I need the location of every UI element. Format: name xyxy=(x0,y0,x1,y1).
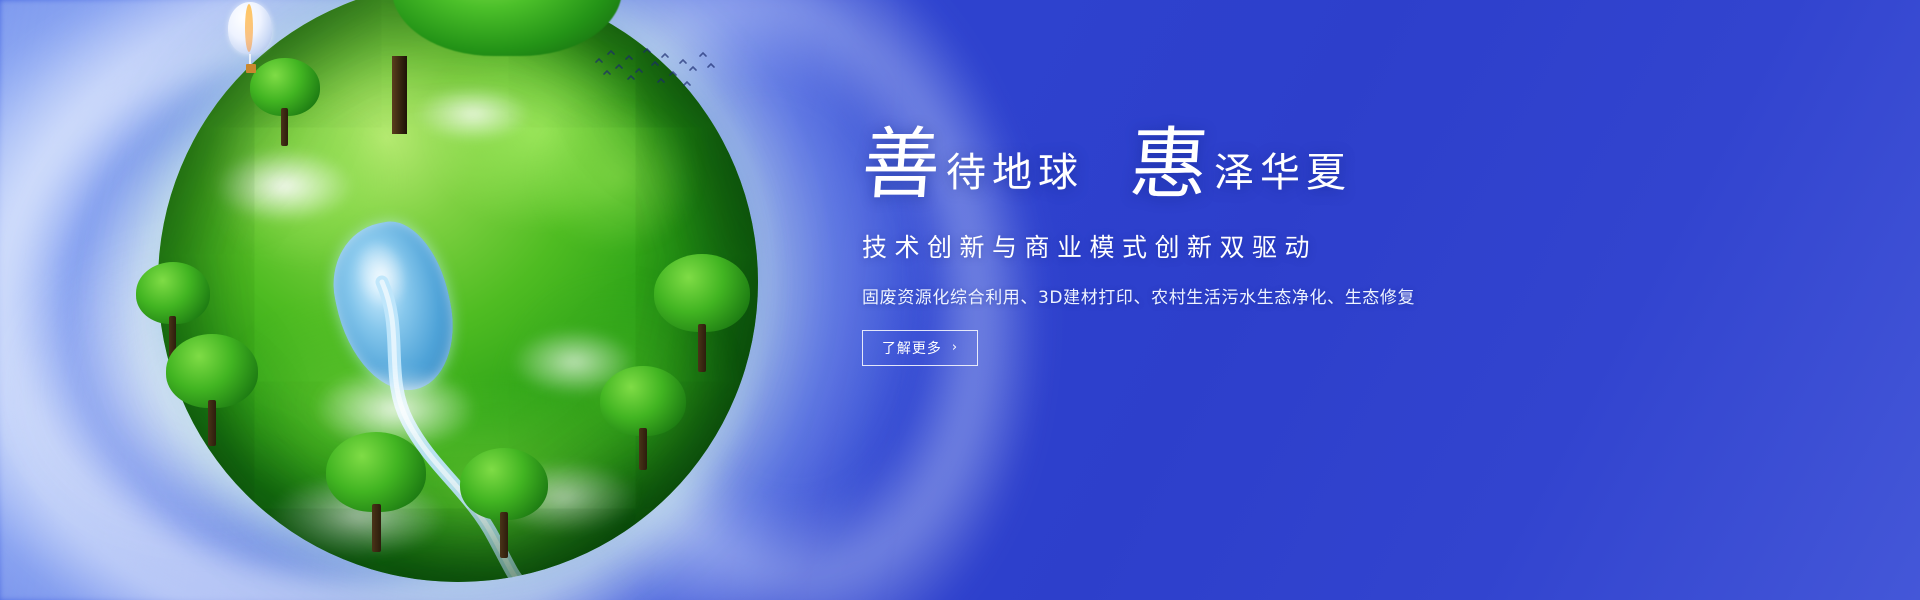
hero-banner: 善 待地球 惠 泽华夏 技术创新与商业模式创新双驱动 固废资源化综合利用、3D建… xyxy=(0,0,1920,600)
headline-phrase-2: 惠 泽华夏 xyxy=(1130,130,1352,202)
subtitle: 技术创新与商业模式创新双驱动 xyxy=(862,228,1582,264)
hero-text-block: 善 待地球 惠 泽华夏 技术创新与商业模式创新双驱动 固废资源化综合利用、3D建… xyxy=(862,130,1582,366)
hot-air-balloon-icon xyxy=(228,2,276,80)
rim-tree xyxy=(654,254,750,372)
headline-lead-char-1: 善 xyxy=(859,130,942,202)
rim-tree xyxy=(600,366,686,470)
learn-more-button[interactable]: 了解更多 › xyxy=(862,330,978,366)
bird-flock-icon xyxy=(592,48,722,94)
rim-tree xyxy=(460,448,548,558)
description: 固废资源化综合利用、3D建材打印、农村生活污水生态净化、生态修复 xyxy=(862,283,1582,308)
headline-phrase-1: 善 待地球 xyxy=(862,130,1084,202)
headline-rest-2: 泽华夏 xyxy=(1214,153,1352,202)
rim-tree xyxy=(166,334,258,446)
headline-rest-1: 待地球 xyxy=(946,153,1084,202)
headline: 善 待地球 惠 泽华夏 xyxy=(862,130,1582,202)
headline-lead-char-2: 惠 xyxy=(1128,130,1211,202)
learn-more-label: 了解更多 xyxy=(882,338,942,358)
chevron-right-icon: › xyxy=(952,341,958,354)
hero-tree xyxy=(392,0,622,96)
rim-tree xyxy=(326,432,426,552)
